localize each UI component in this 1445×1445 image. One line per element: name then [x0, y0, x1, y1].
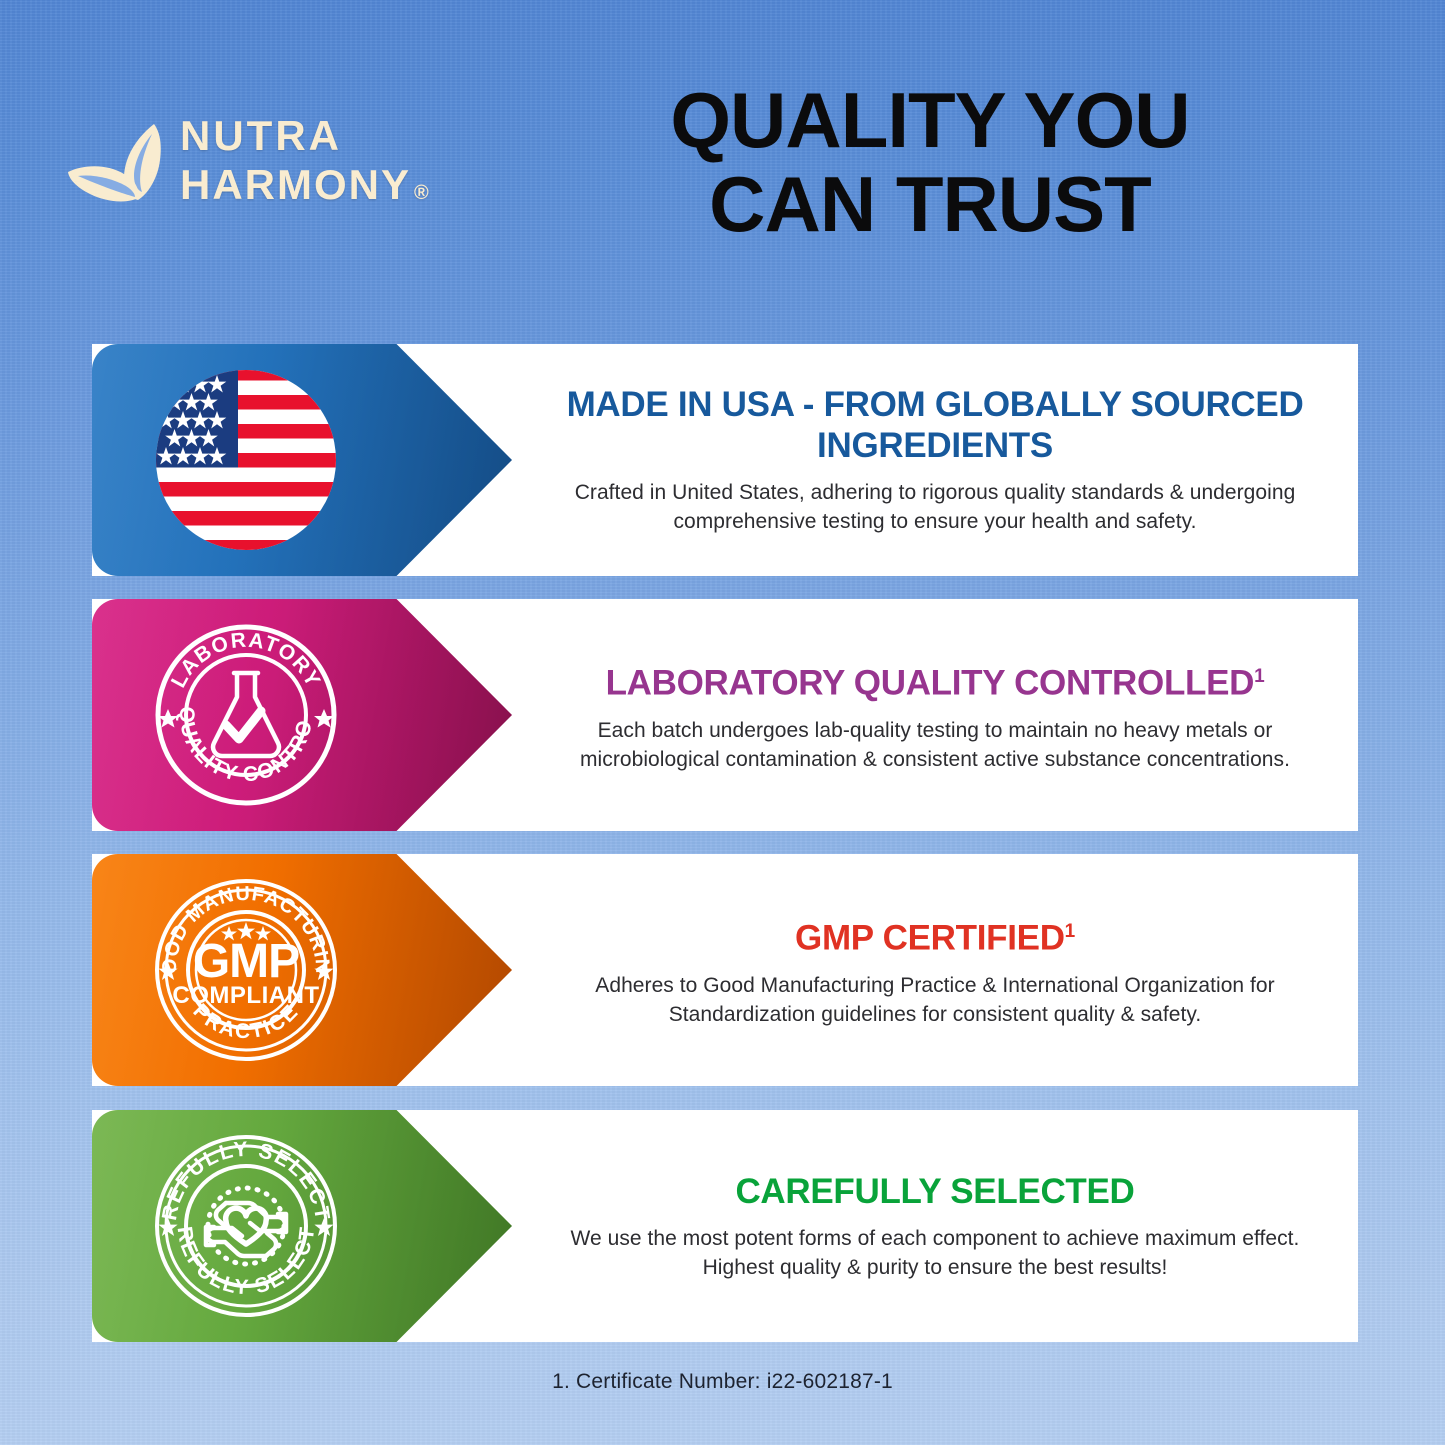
feature-title: LABORATORY QUALITY CONTROLLED1 — [606, 656, 1265, 704]
feature-description: Crafted in United States, adhering to ri… — [540, 478, 1330, 536]
feature-footnote-marker: 1 — [1065, 921, 1075, 942]
feature-description: We use the most potent forms of each com… — [540, 1224, 1330, 1282]
feature-title: GMP CERTIFIED1 — [795, 911, 1075, 959]
feature-title-text: GMP CERTIFIED — [795, 919, 1065, 958]
feature-text-block: GMP CERTIFIED1 Adheres to Good Manufactu… — [512, 854, 1358, 1086]
feature-description: Each batch undergoes lab-quality testing… — [540, 716, 1330, 774]
feature-title-text: LABORATORY QUALITY CONTROLLED — [606, 664, 1255, 703]
carefully-selected-seal-icon: CAREFULLY SELECTED CAREFULLY SELECTED — [152, 1132, 340, 1320]
feature-text-block: CAREFULLY SELECTED We use the most poten… — [512, 1110, 1358, 1342]
feature-footnote-marker: 1 — [1254, 666, 1264, 687]
svg-text:LABORATORY: LABORATORY — [167, 629, 325, 692]
feature-row-gmp-certified: GOOD MANUFACTURING PRACTICE GMP COMPLIAN… — [92, 854, 1358, 1086]
feature-description: Adheres to Good Manufacturing Practice &… — [540, 971, 1330, 1029]
gmp-compliant-seal-icon: GOOD MANUFACTURING PRACTICE GMP COMPLIAN… — [152, 876, 340, 1064]
feature-row-laboratory-quality: LABORATORY QUALITY CONTROL LABORATORY QU… — [92, 599, 1358, 831]
svg-text:GMP: GMP — [193, 935, 299, 988]
svg-text:COMPLIANT: COMPLIANT — [172, 982, 319, 1009]
feature-title: CAREFULLY SELECTED — [735, 1171, 1134, 1212]
feature-row-made-in-usa: MADE IN USA - FROM GLOBALLY SOURCED INGR… — [92, 344, 1358, 576]
certificate-footnote: 1. Certificate Number: i22-602187-1 — [0, 1370, 1445, 1394]
feature-list: MADE IN USA - FROM GLOBALLY SOURCED INGR… — [0, 0, 1445, 1445]
laboratory-quality-control-seal-icon: LABORATORY QUALITY CONTROL — [152, 621, 340, 809]
feature-text-block: MADE IN USA - FROM GLOBALLY SOURCED INGR… — [512, 344, 1358, 576]
feature-row-carefully-selected: CAREFULLY SELECTED CAREFULLY SELECTED — [92, 1110, 1358, 1342]
feature-text-block: LABORATORY QUALITY CONTROLLED1 Each batc… — [512, 599, 1358, 831]
feature-title: MADE IN USA - FROM GLOBALLY SOURCED INGR… — [534, 384, 1336, 466]
usa-flag-circle-icon — [152, 366, 340, 554]
feature-title-text: CAREFULLY SELECTED — [735, 1172, 1134, 1211]
feature-title-text: MADE IN USA - FROM GLOBALLY SOURCED INGR… — [567, 385, 1304, 465]
